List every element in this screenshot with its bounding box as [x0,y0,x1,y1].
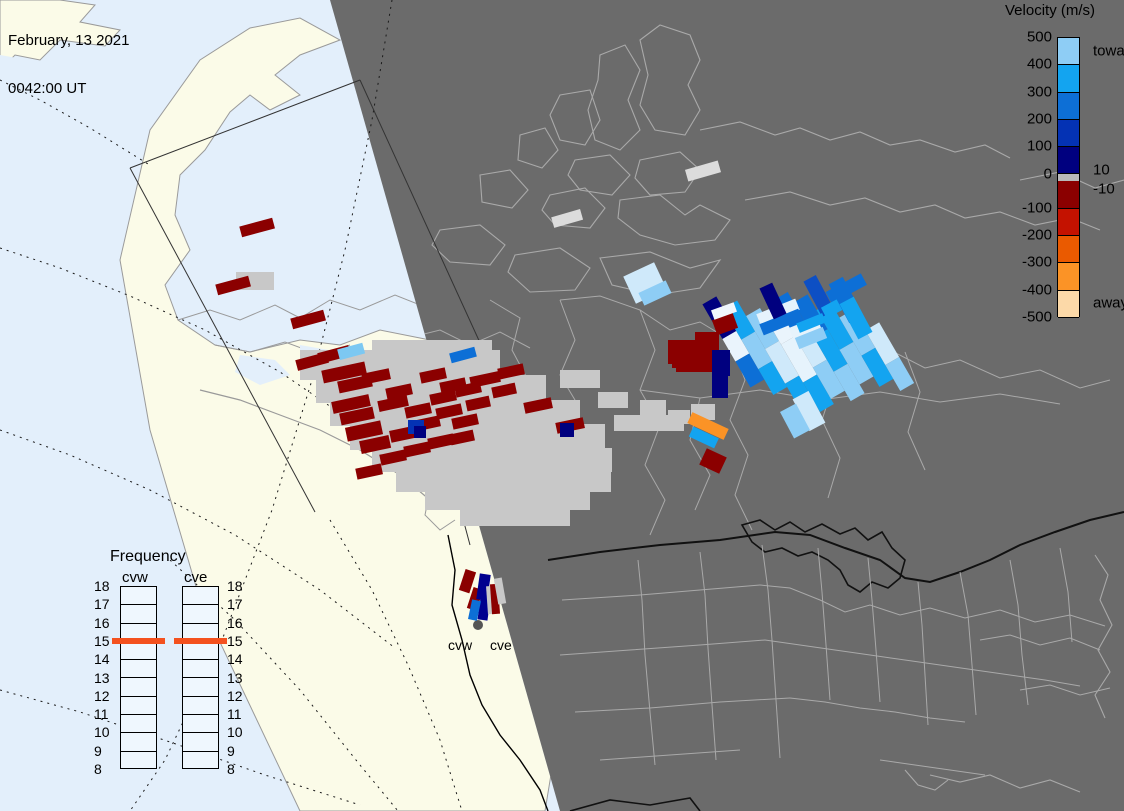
frequency-cell [183,697,218,715]
frequency-cell [183,642,218,660]
radar-velocity-map: cvw cve February, 13 2021 0042:00 UT Vel… [0,0,1124,811]
colorbar-label-pos-threshold: 10 [1093,161,1110,178]
colorbar-tick--400: -400 [1022,281,1052,298]
colorbar-tick-200: 200 [1027,110,1052,127]
colorbar-tick-300: 300 [1027,83,1052,100]
colorbar-label-toward: toward [1093,42,1124,59]
frequency-cell [121,715,156,733]
frequency-cell [121,678,156,696]
colorbar-segment--50 [1058,181,1079,208]
frequency-cell [183,678,218,696]
frequency-tick-cvw-16: 16 [94,615,110,631]
frequency-tick-cvw-14: 14 [94,651,110,667]
frequency-tick-cvw-18: 18 [94,578,110,594]
frequency-cell [183,752,218,770]
colorbar-segment--350 [1058,263,1079,290]
frequency-tick-cvw-11: 11 [94,706,109,722]
frequency-cell [183,587,218,605]
colorbar-tick-100: 100 [1027,138,1052,155]
colorbar-label-neg-threshold: -10 [1093,180,1115,197]
colorbar-segment-250 [1058,93,1079,120]
date-text: February, 13 2021 [8,33,129,49]
frequency-marker-cvw [112,638,165,644]
frequency-title: Frequency [110,548,186,566]
frequency-tick-cvw-12: 12 [94,688,110,704]
velocity-colorbar: Velocity (m/s) 5004003002001000-100-200-… [985,0,1124,340]
frequency-tick-cve-13: 13 [227,670,243,686]
colorbar-segment--250 [1058,236,1079,263]
frequency-tick-cve-12: 12 [227,688,243,704]
frequency-tick-cvw-15: 15 [94,633,110,649]
site-label-cvw: cvw [448,637,473,653]
frequency-cell [183,605,218,623]
colorbar-segment-150 [1058,120,1079,147]
frequency-cell [121,660,156,678]
colorbar-segment-0 [1058,174,1079,181]
colorbar-segment--150 [1058,209,1079,236]
frequency-legend: Frequency cvw18171615141312111098cve1817… [96,548,246,780]
colorbar-tick-500: 500 [1027,29,1052,46]
frequency-bar-cvw [120,586,157,769]
colorbar-tick--100: -100 [1022,199,1052,216]
colorbar-tick--200: -200 [1022,227,1052,244]
frequency-radar-label-cvw: cvw [122,569,148,586]
frequency-tick-cve-15: 15 [227,633,243,649]
timestamp-block: February, 13 2021 0042:00 UT [8,1,129,129]
frequency-cell [121,733,156,751]
frequency-marker-cve [174,638,227,644]
frequency-cell [121,587,156,605]
colorbar-label-away: away [1093,295,1124,312]
time-text: 0042:00 UT [8,81,129,97]
frequency-tick-cve-17: 17 [227,596,243,612]
colorbar-segment-350 [1058,65,1079,92]
colorbar-segment-50 [1058,147,1079,174]
colorbar-gradient [1057,37,1080,317]
frequency-tick-cve-8: 8 [227,761,235,777]
frequency-cell [121,605,156,623]
frequency-cell [121,752,156,770]
colorbar-title: Velocity (m/s) [1005,2,1095,19]
frequency-tick-cvw-9: 9 [94,743,102,759]
frequency-tick-cvw-10: 10 [94,724,110,740]
frequency-cell [183,733,218,751]
site-label-cve: cve [490,637,512,653]
frequency-cell [121,642,156,660]
colorbar-tick-400: 400 [1027,56,1052,73]
frequency-tick-cve-18: 18 [227,578,243,594]
colorbar-tick-0: 0 [1044,165,1052,182]
colorbar-tick--500: -500 [1022,309,1052,326]
frequency-tick-cve-11: 11 [227,706,242,722]
colorbar-segment-450 [1058,38,1079,65]
frequency-tick-cve-14: 14 [227,651,243,667]
frequency-tick-cve-10: 10 [227,724,243,740]
frequency-radar-label-cve: cve [184,569,207,586]
frequency-tick-cvw-8: 8 [94,761,102,777]
frequency-bar-cve [182,586,219,769]
frequency-tick-cve-9: 9 [227,743,235,759]
frequency-cell [183,715,218,733]
frequency-cell [121,697,156,715]
frequency-tick-cvw-17: 17 [94,596,110,612]
frequency-tick-cvw-13: 13 [94,670,110,686]
frequency-cell [183,660,218,678]
colorbar-tick--300: -300 [1022,254,1052,271]
frequency-tick-cve-16: 16 [227,615,243,631]
colorbar-segment--450 [1058,291,1079,318]
